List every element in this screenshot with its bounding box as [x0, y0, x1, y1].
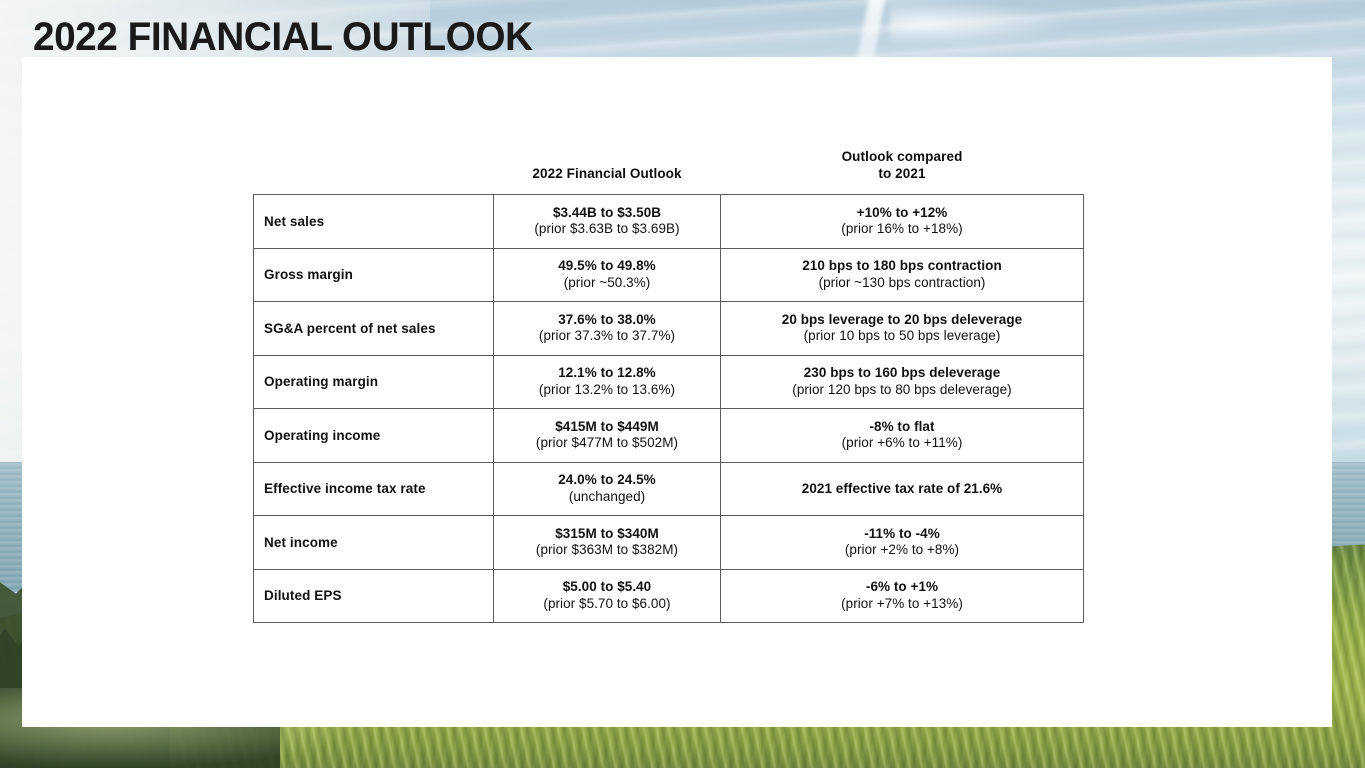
cell-2022-outlook: 37.6% to 38.0%(prior 37.3% to 37.7%) [494, 302, 721, 356]
table-row: Operating income$415M to $449M(prior $47… [254, 409, 1084, 463]
cell-outlook-compared-primary: -11% to -4% [731, 526, 1073, 543]
row-label: Gross margin [254, 248, 494, 302]
cell-outlook-compared-prior: (prior 16% to +18%) [731, 221, 1073, 238]
cell-outlook-compared: 20 bps leverage to 20 bps deleverage(pri… [721, 302, 1084, 356]
cell-2022-outlook: $415M to $449M(prior $477M to $502M) [494, 409, 721, 463]
cell-outlook-compared-prior: (prior 120 bps to 80 bps deleverage) [731, 382, 1073, 399]
table-row: Gross margin49.5% to 49.8%(prior ~50.3%)… [254, 248, 1084, 302]
cell-outlook-compared: 230 bps to 160 bps deleverage(prior 120 … [721, 355, 1084, 409]
cell-2022-outlook-prior: (prior ~50.3%) [504, 275, 710, 292]
table-row: Net sales$3.44B to $3.50B(prior $3.63B t… [254, 195, 1084, 249]
row-label: Diluted EPS [254, 569, 494, 623]
cell-outlook-compared-primary: 210 bps to 180 bps contraction [731, 258, 1073, 275]
financial-outlook-table: 2022 Financial Outlook Outlook compared … [253, 148, 1084, 623]
table-row: Operating margin12.1% to 12.8%(prior 13.… [254, 355, 1084, 409]
table-body: Net sales$3.44B to $3.50B(prior $3.63B t… [254, 195, 1084, 623]
cell-outlook-compared: -8% to flat(prior +6% to +11%) [721, 409, 1084, 463]
cell-outlook-compared: 2021 effective tax rate of 21.6% [721, 462, 1084, 516]
cell-2022-outlook-prior: (prior $3.63B to $3.69B) [504, 221, 710, 238]
column-header-outlook-compared: Outlook compared to 2021 [721, 148, 1084, 195]
cell-outlook-compared-primary: -8% to flat [731, 419, 1073, 436]
table-row: SG&A percent of net sales37.6% to 38.0%(… [254, 302, 1084, 356]
cell-outlook-compared: 210 bps to 180 bps contraction(prior ~13… [721, 248, 1084, 302]
cell-2022-outlook-prior: (prior $5.70 to $6.00) [504, 596, 710, 613]
content-card: 2022 Financial Outlook Outlook compared … [22, 57, 1332, 727]
cell-2022-outlook-primary: 49.5% to 49.8% [504, 258, 710, 275]
cell-2022-outlook: 24.0% to 24.5%(unchanged) [494, 462, 721, 516]
cell-2022-outlook-prior: (prior $477M to $502M) [504, 435, 710, 452]
cell-outlook-compared-primary: 20 bps leverage to 20 bps deleverage [731, 312, 1073, 329]
column-header-compared-line2: to 2021 [878, 166, 925, 181]
table-header: 2022 Financial Outlook Outlook compared … [254, 148, 1084, 195]
cell-outlook-compared-prior: (prior 10 bps to 50 bps leverage) [731, 328, 1073, 345]
outlook-table-container: 2022 Financial Outlook Outlook compared … [253, 148, 1083, 623]
cell-2022-outlook: $315M to $340M(prior $363M to $382M) [494, 516, 721, 570]
cell-2022-outlook-primary: 24.0% to 24.5% [504, 472, 710, 489]
column-header-2022-outlook-line1: 2022 Financial Outlook [532, 166, 681, 181]
cell-outlook-compared-primary: 230 bps to 160 bps deleverage [731, 365, 1073, 382]
row-label: SG&A percent of net sales [254, 302, 494, 356]
row-label: Effective income tax rate [254, 462, 494, 516]
cell-2022-outlook-primary: $5.00 to $5.40 [504, 579, 710, 596]
cell-outlook-compared-prior: (prior ~130 bps contraction) [731, 275, 1073, 292]
cell-outlook-compared-primary: 2021 effective tax rate of 21.6% [731, 481, 1073, 498]
presentation-slide: 2022 FINANCIAL OUTLOOK 2022 Financial Ou… [0, 0, 1365, 768]
table-row: Net income$315M to $340M(prior $363M to … [254, 516, 1084, 570]
table-header-row: 2022 Financial Outlook Outlook compared … [254, 148, 1084, 195]
row-label: Operating margin [254, 355, 494, 409]
table-row: Effective income tax rate24.0% to 24.5%(… [254, 462, 1084, 516]
cell-outlook-compared-primary: -6% to +1% [731, 579, 1073, 596]
table-row: Diluted EPS$5.00 to $5.40(prior $5.70 to… [254, 569, 1084, 623]
cell-2022-outlook-primary: 12.1% to 12.8% [504, 365, 710, 382]
cell-outlook-compared: +10% to +12%(prior 16% to +18%) [721, 195, 1084, 249]
row-label: Operating income [254, 409, 494, 463]
cell-2022-outlook-prior: (unchanged) [504, 489, 710, 506]
page-title: 2022 FINANCIAL OUTLOOK [33, 14, 533, 60]
cell-2022-outlook: 12.1% to 12.8%(prior 13.2% to 13.6%) [494, 355, 721, 409]
column-header-metric [254, 148, 494, 195]
cell-2022-outlook: $5.00 to $5.40(prior $5.70 to $6.00) [494, 569, 721, 623]
cell-2022-outlook-primary: $415M to $449M [504, 419, 710, 436]
cell-outlook-compared-prior: (prior +7% to +13%) [731, 596, 1073, 613]
cell-2022-outlook: 49.5% to 49.8%(prior ~50.3%) [494, 248, 721, 302]
cell-2022-outlook-prior: (prior $363M to $382M) [504, 542, 710, 559]
cell-2022-outlook-primary: $315M to $340M [504, 526, 710, 543]
row-label: Net income [254, 516, 494, 570]
cell-2022-outlook: $3.44B to $3.50B(prior $3.63B to $3.69B) [494, 195, 721, 249]
column-header-2022-outlook: 2022 Financial Outlook [494, 148, 721, 195]
cell-2022-outlook-primary: $3.44B to $3.50B [504, 205, 710, 222]
column-header-compared-line1: Outlook compared [842, 149, 963, 164]
background-contrail-glow [890, 0, 1070, 46]
row-label: Net sales [254, 195, 494, 249]
cell-outlook-compared-prior: (prior +2% to +8%) [731, 542, 1073, 559]
cell-outlook-compared-prior: (prior +6% to +11%) [731, 435, 1073, 452]
cell-outlook-compared-primary: +10% to +12% [731, 205, 1073, 222]
cell-outlook-compared: -11% to -4%(prior +2% to +8%) [721, 516, 1084, 570]
cell-2022-outlook-prior: (prior 37.3% to 37.7%) [504, 328, 710, 345]
cell-outlook-compared: -6% to +1%(prior +7% to +13%) [721, 569, 1084, 623]
cell-2022-outlook-primary: 37.6% to 38.0% [504, 312, 710, 329]
cell-2022-outlook-prior: (prior 13.2% to 13.6%) [504, 382, 710, 399]
